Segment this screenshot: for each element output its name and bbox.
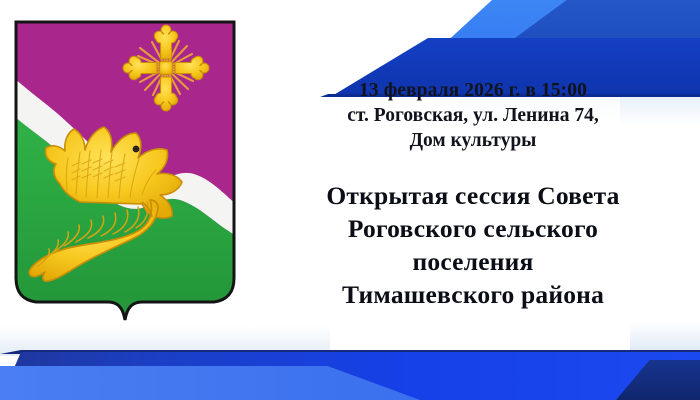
headline-line-3: поселения <box>258 245 688 278</box>
event-venue-line: Дом культуры <box>258 128 688 153</box>
bottom-right-navy-wedge <box>616 360 700 400</box>
headline-line-4: Тимашевского района <box>258 278 688 311</box>
bottom-band-blue <box>0 352 700 400</box>
top-band-dark-blue <box>390 0 700 66</box>
headline-line-1: Открытая сессия Совета <box>258 179 688 212</box>
event-address-line: ст. Роговская, ул. Ленина 74, <box>258 103 688 128</box>
event-date-line: 13 февраля 2026 г. в 15:00 <box>258 78 688 103</box>
text-column: 13 февраля 2026 г. в 15:00 ст. Роговская… <box>258 78 688 311</box>
announcement-poster: 13 февраля 2026 г. в 15:00 ст. Роговская… <box>0 0 700 400</box>
bottom-band-edge-line <box>0 350 700 354</box>
headline-line-2: Роговского сельского <box>258 212 688 245</box>
bottom-right-pale-wash <box>630 322 700 356</box>
headline: Открытая сессия Совета Роговского сельск… <box>258 179 688 311</box>
bottom-band-light-parallelogram <box>0 366 420 400</box>
coat-of-arms-emblem <box>14 20 236 342</box>
cornucopia-seed-dot <box>133 146 140 153</box>
